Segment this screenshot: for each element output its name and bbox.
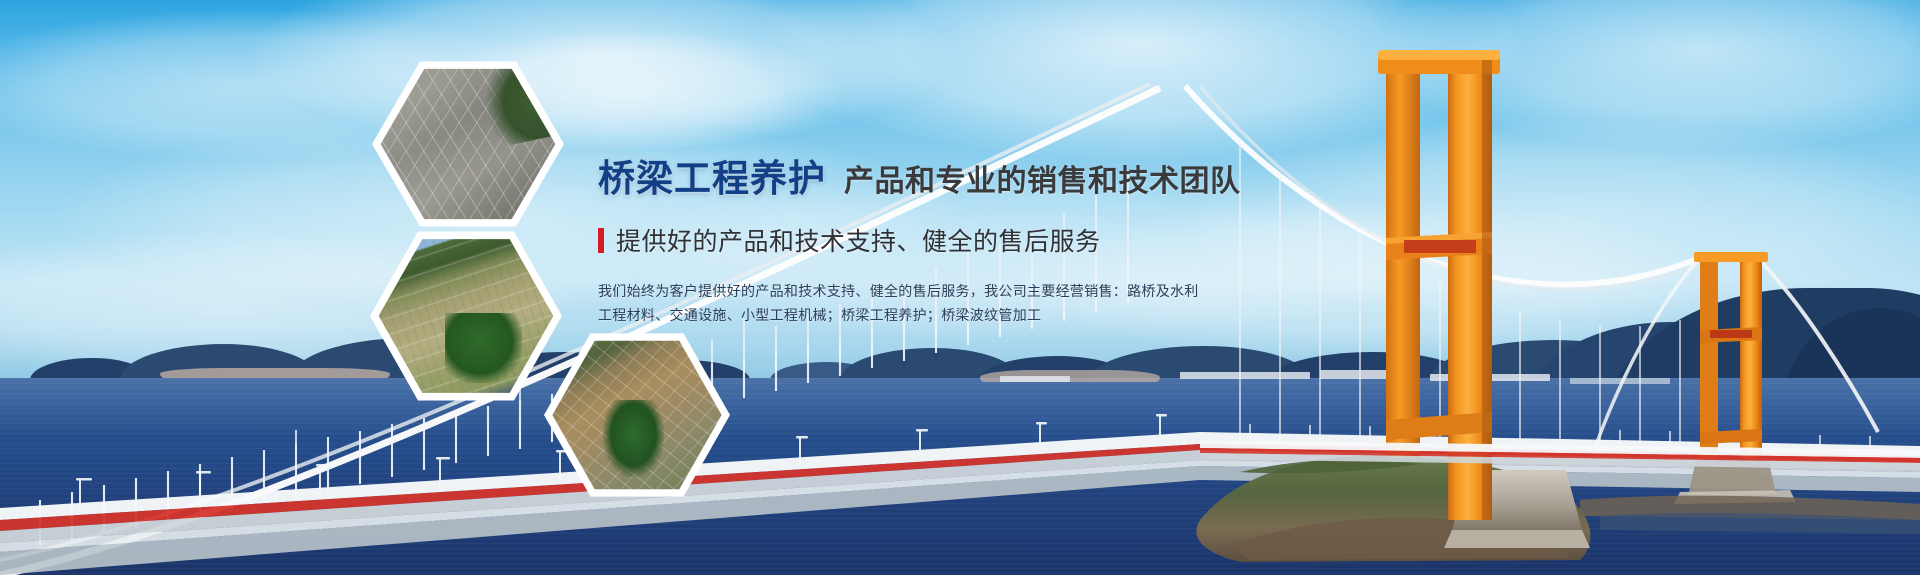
body-line-1: 我们始终为客户提供好的产品和技术支持、健全的售后服务，我公司主要经营销售：路桥及… — [598, 280, 1068, 304]
hex-photo-3[interactable] — [544, 330, 730, 500]
headline-main: 桥梁工程养护 — [598, 148, 826, 202]
subline-text: 提供好的产品和技术支持、健全的售后服务 — [616, 222, 1101, 258]
cloud — [250, 0, 950, 150]
body-line-2: 工程材料、交通设施、小型工程机械；桥梁工程养护；桥梁波纹管加工 — [598, 304, 1068, 328]
red-bar-marker — [598, 228, 604, 253]
coastal-town — [1000, 376, 1070, 382]
hex-photo-1[interactable] — [372, 58, 564, 230]
cloud — [1380, 0, 1920, 150]
cloud — [760, 0, 1520, 160]
hero-banner: 桥梁工程养护 产品和专业的销售和技术团队 提供好的产品和技术支持、健全的售后服务… — [0, 0, 1920, 575]
coastal-town — [1570, 378, 1670, 384]
coastal-town — [1320, 370, 1410, 379]
headline-row: 桥梁工程养护 产品和专业的销售和技术团队 — [598, 148, 1318, 202]
rock-slope-netting-photo — [381, 66, 556, 223]
coastal-town — [1430, 374, 1550, 381]
headline-sub: 产品和专业的销售和技术团队 — [844, 156, 1241, 200]
body-paragraph: 我们始终为客户提供好的产品和技术支持、健全的售后服务，我公司主要经营销售：路桥及… — [598, 280, 1068, 328]
subline-row: 提供好的产品和技术支持、健全的售后服务 — [598, 222, 1318, 258]
banner-text-block: 桥梁工程养护 产品和专业的销售和技术团队 提供好的产品和技术支持、健全的售后服务… — [598, 148, 1318, 328]
vegetated-slope-photo — [379, 236, 554, 396]
hex-photo-2[interactable] — [370, 228, 562, 404]
sandbar — [160, 368, 390, 378]
ochre-slope-netting-photo — [552, 338, 721, 493]
coastal-town — [1180, 372, 1310, 379]
sea-water — [0, 378, 1920, 575]
